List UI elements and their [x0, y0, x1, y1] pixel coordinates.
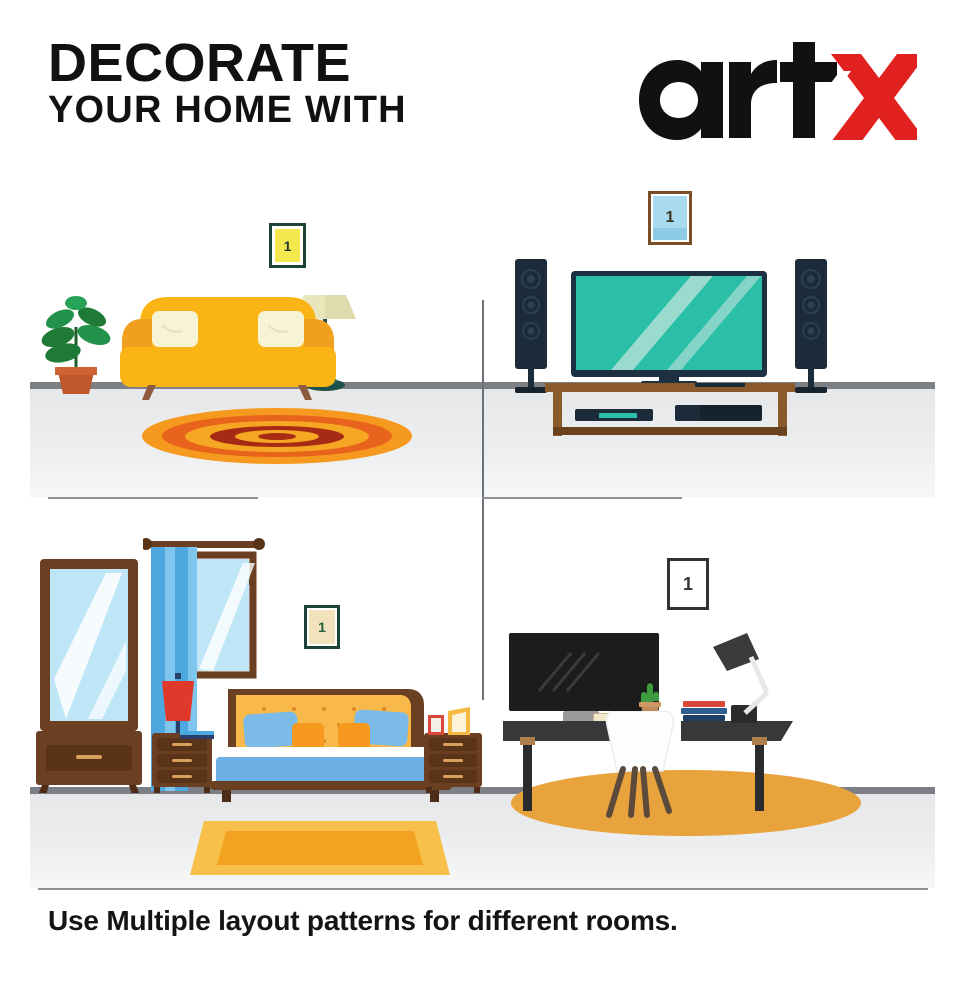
bed: [208, 681, 453, 803]
tv-stand: [545, 383, 795, 441]
frame-number: 1: [318, 619, 326, 635]
orange-rug: [190, 821, 450, 875]
logo-letter-r: [729, 60, 777, 138]
headline-line-1: DECORATE: [48, 38, 407, 89]
scene-tv-room: 1: [485, 175, 935, 497]
scene-living-room: 1: [30, 175, 485, 497]
footer-caption: Use Multiple layout patterns for differe…: [48, 905, 678, 937]
horizontal-divider-top-right: [482, 497, 682, 499]
frame-artwork: 1: [653, 196, 687, 240]
logo-letter-a: [639, 60, 723, 140]
nightstand-right: [424, 733, 482, 793]
header: DECORATE YOUR HOME WITH: [0, 0, 965, 175]
frame-number: 1: [284, 238, 292, 254]
frame-number: 1: [666, 209, 675, 227]
desk-lamp: [701, 631, 777, 723]
frame-art-water: [653, 228, 687, 240]
wall-art-frame-office[interactable]: 1: [667, 558, 709, 610]
nightstand-left: [152, 733, 212, 793]
headline-line-2: YOUR HOME WITH: [48, 93, 407, 129]
potted-plant: [36, 275, 116, 395]
page-title: DECORATE YOUR HOME WITH: [48, 38, 407, 128]
photo-frames: [426, 707, 482, 735]
artx-logo: artX: [617, 40, 917, 140]
office-chair: [581, 711, 693, 821]
webcam-dot: [579, 701, 584, 706]
poster-root: DECORATE YOUR HOME WITH: [0, 0, 965, 1000]
scene-bedroom: 1: [30, 525, 485, 888]
frame-mat: 1: [670, 561, 706, 607]
frame-mat: 1: [651, 194, 689, 242]
frame-mat: 1: [307, 608, 337, 646]
scene-home-office: 1: [485, 525, 935, 888]
standing-mirror: [36, 559, 142, 793]
right-tower-speaker: [791, 259, 831, 397]
wall-art-frame-bedroom[interactable]: 1: [304, 605, 340, 649]
frame-artwork: 1: [309, 610, 335, 644]
horizontal-divider-bottom: [38, 888, 928, 890]
frame-number: 1: [683, 574, 693, 595]
rug-ring-6: [258, 433, 296, 440]
wall-art-frame-tv-room[interactable]: 1: [648, 191, 692, 245]
vertical-divider: [482, 300, 484, 700]
frame-artwork: 1: [672, 563, 704, 605]
tv-screen: [571, 271, 767, 387]
yellow-sofa: [118, 285, 338, 400]
left-tower-speaker: [511, 259, 551, 397]
horizontal-divider-top: [48, 497, 258, 499]
logo-letter-x: [825, 54, 917, 140]
